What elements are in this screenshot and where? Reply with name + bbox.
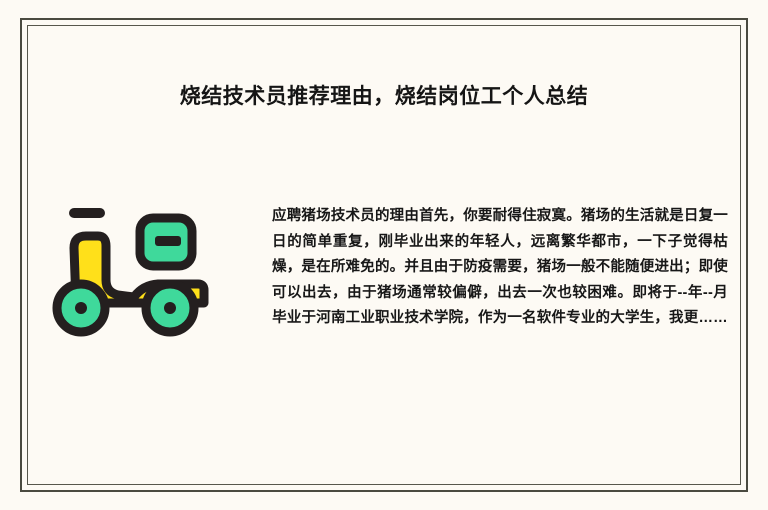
content-row: 应聘猪场技术员的理由首先，你要耐得住寂寞。猪场的生活就是日复一日的简单重复，刚毕… [40, 190, 730, 430]
article-card: 烧结技术员推荐理由，烧结岗位工个人总结 [0, 0, 768, 510]
page-title: 烧结技术员推荐理由，烧结岗位工个人总结 [44, 82, 724, 112]
scooter-illustration [48, 200, 218, 340]
article-body-text: 应聘猪场技术员的理由首先，你要耐得住寂寞。猪场的生活就是日复一日的简单重复，刚毕… [272, 204, 728, 332]
delivery-box-slot-icon [155, 236, 181, 246]
front-hub-icon [75, 302, 87, 314]
rear-hub-icon [164, 302, 176, 314]
